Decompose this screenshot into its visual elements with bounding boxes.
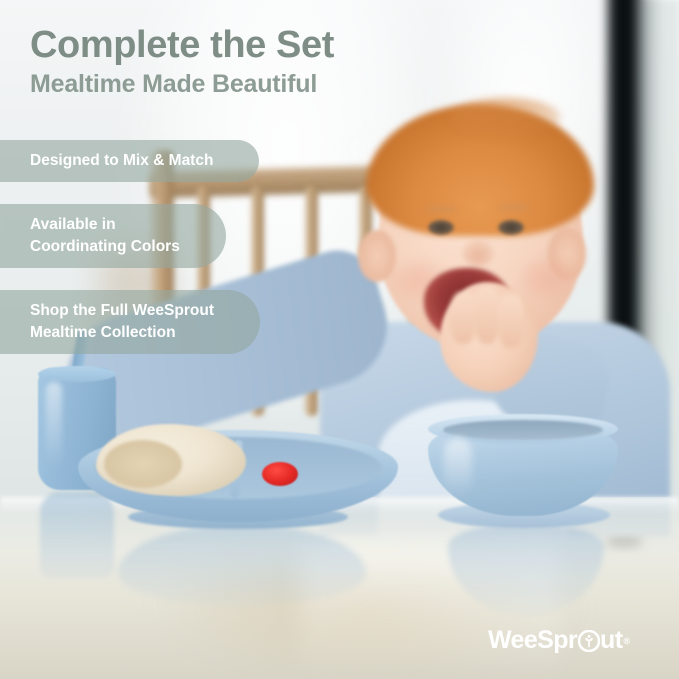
bowl-interior (443, 420, 603, 440)
feature-pill-line1: Designed to Mix & Match (30, 152, 213, 169)
toddler-finger (498, 294, 524, 348)
brand-name-part2: ut (600, 628, 622, 653)
sprout-icon (578, 630, 600, 652)
toddler-eye-left (428, 220, 454, 235)
food-oatmeal-shadow (104, 440, 182, 488)
toddler-finger (450, 292, 476, 344)
toddler-finger (474, 286, 500, 344)
toddler-brow-right (496, 204, 530, 211)
registered-mark: ® (623, 637, 629, 646)
feature-pill-mix-match[interactable]: Designed to Mix & Match (0, 140, 259, 182)
toddler-cheek-right (520, 258, 574, 298)
headline-block: Complete the Set Mealtime Made Beautiful (30, 26, 334, 98)
product-marketing-image: Complete the Set Mealtime Made Beautiful… (0, 0, 679, 679)
food-raspberry (262, 462, 298, 486)
toddler-hand (440, 282, 538, 392)
feature-pill-coordinating-colors[interactable]: Available in Coordinating Colors (0, 204, 226, 268)
page-title: Complete the Set (30, 26, 334, 66)
brand-logo-text: WeeSpr ut ® (488, 628, 629, 653)
feature-pill-line1: Shop the Full WeeSprout (30, 300, 214, 322)
toddler-brow-left (424, 206, 458, 213)
feature-pill-line2: Coordinating Colors (30, 236, 180, 258)
feature-pill-line1: Available in (30, 214, 180, 236)
cup-highlight (46, 382, 62, 468)
feature-pill-line2: Mealtime Collection (30, 322, 214, 344)
bowl-highlight (444, 438, 472, 498)
feature-pill-shop-collection[interactable]: Shop the Full WeeSprout Mealtime Collect… (0, 290, 260, 354)
cup-reflection (40, 492, 114, 578)
brand-name-part1: WeeSpr (488, 628, 577, 653)
page-subtitle: Mealtime Made Beautiful (30, 71, 334, 99)
brand-logo[interactable]: WeeSpr ut ® (488, 628, 629, 653)
toddler-hair-wisp (450, 98, 560, 138)
toddler-eye-right (498, 220, 524, 235)
feature-pill-list: Designed to Mix & Match Available in Coo… (0, 140, 300, 376)
toddler-nose (462, 240, 494, 266)
toddler-ear-left (358, 230, 396, 282)
